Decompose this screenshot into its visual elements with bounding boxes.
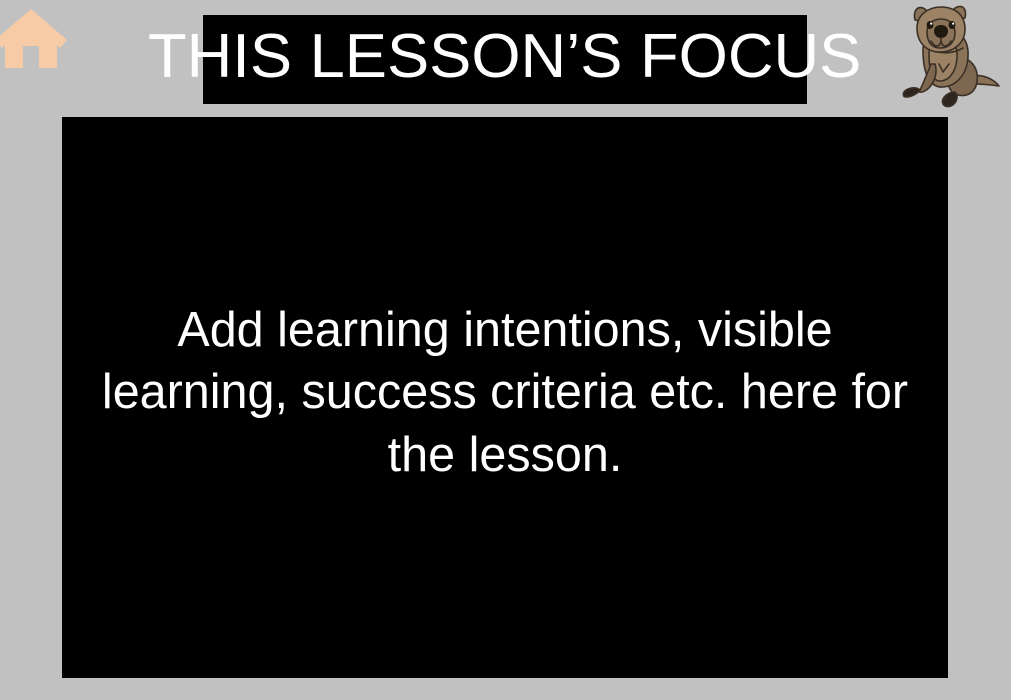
slide-canvas: THIS LESSON’S FOCUS xyxy=(0,0,1011,700)
content-body-text: Add learning intentions, visible learnin… xyxy=(99,299,911,486)
title-banner: THIS LESSON’S FOCUS xyxy=(203,15,807,104)
content-box: Add learning intentions, visible learnin… xyxy=(62,117,948,678)
page-title: THIS LESSON’S FOCUS xyxy=(148,26,861,88)
home-icon[interactable] xyxy=(0,7,68,69)
quokka-illustration xyxy=(893,2,1007,112)
